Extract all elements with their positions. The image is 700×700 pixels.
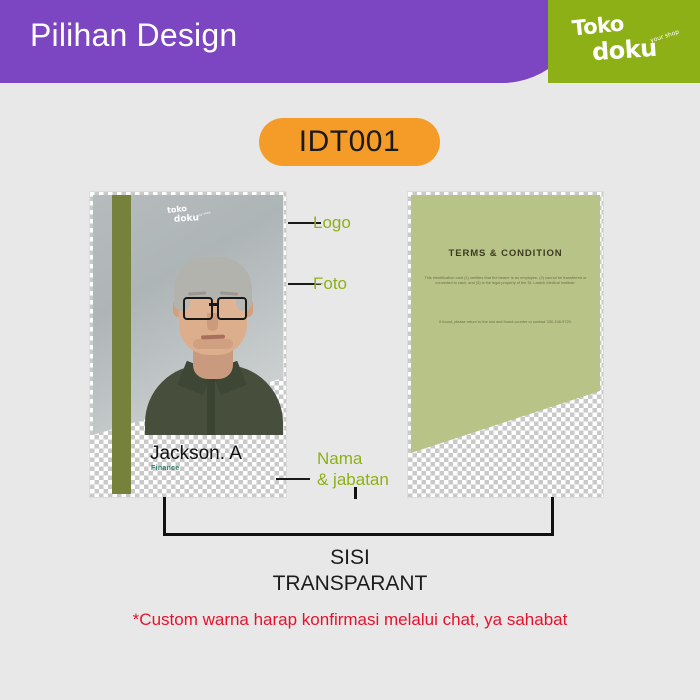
photo-mouth — [201, 335, 225, 340]
poster-canvas: Pilihan Design Toko doku your shop IDT00… — [0, 0, 700, 700]
photo-glasses-right-lens — [217, 297, 247, 320]
design-code-badge: IDT001 — [259, 118, 440, 166]
transparency-bracket-stem — [354, 487, 357, 499]
footer-note: *Custom warna harap konfirmasi melalui c… — [0, 610, 700, 630]
brand-logo-line2: doku — [591, 34, 658, 66]
callout-label-jabatan: & jabatan — [317, 469, 389, 490]
terms-body: This identification card (1) certifies t… — [423, 275, 588, 285]
id-card-back: TERMS & CONDITION This identification ca… — [408, 192, 603, 497]
id-card-back-artwork: TERMS & CONDITION This identification ca… — [411, 195, 600, 494]
design-code-label: IDT001 — [259, 118, 440, 166]
photo-placket — [207, 377, 215, 435]
bracket-caption-line1: SISI — [0, 545, 700, 571]
terms-title: TERMS & CONDITION — [411, 248, 600, 259]
card-back-panel — [411, 195, 600, 494]
leader-line-nama — [276, 478, 310, 480]
brand-logo: Toko doku your shop — [566, 12, 691, 74]
bracket-caption: SISI TRANSPARANT — [0, 545, 700, 597]
card-employee-name: Jackson. A — [150, 443, 242, 465]
callout-label-nama: Nama — [317, 448, 362, 469]
header-bar: Pilihan Design Toko doku your shop — [0, 0, 700, 83]
photo-glasses-bridge — [209, 303, 217, 306]
employee-photo — [141, 233, 283, 435]
card-employee-role: Finance — [151, 465, 180, 472]
bracket-caption-line2: TRANSPARANT — [0, 571, 700, 597]
terms-found-notice: If found, please return to the lost and … — [423, 319, 588, 324]
card-logo: toko doku your shop — [165, 205, 217, 231]
id-card-front: toko doku your shop Jackson. A Finance — [90, 192, 286, 497]
photo-chin-shadow — [193, 339, 233, 349]
photo-glasses-left-lens — [183, 297, 213, 320]
id-card-front-artwork: toko doku your shop Jackson. A Finance — [93, 195, 283, 494]
callout-label-logo: Logo — [313, 212, 351, 233]
transparency-bracket — [163, 497, 554, 536]
callout-label-foto: Foto — [313, 273, 347, 294]
page-title: Pilihan Design — [30, 17, 237, 54]
brand-logo-tagline: your shop — [650, 30, 680, 45]
card-accent-stripe — [112, 195, 131, 494]
